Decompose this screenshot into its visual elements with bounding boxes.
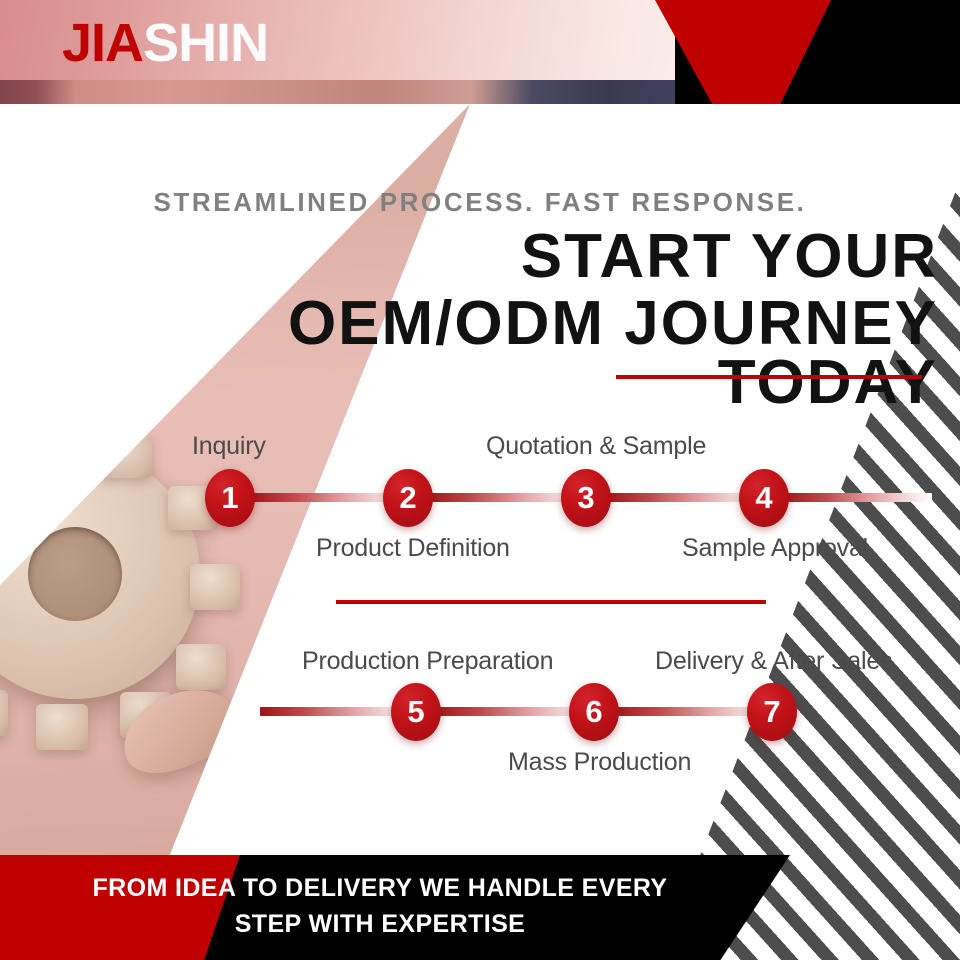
footer-line-2: STEP WITH EXPERTISE: [40, 907, 720, 943]
gear-tooth: [190, 564, 240, 610]
poster-canvas: JIASHIN STREAMLINED PROCESS. FAST RESPON…: [0, 0, 960, 960]
header-bar: JIASHIN: [0, 0, 960, 104]
headline-line-2: OEM/ODM JOURNEY TODAY: [60, 295, 938, 413]
headline-line-1: START YOUR: [60, 228, 938, 287]
step-number: 6: [585, 694, 602, 730]
step-number: 7: [763, 694, 780, 730]
step-label-1: Inquiry: [192, 432, 266, 461]
step-number: 4: [755, 480, 772, 516]
step-badge-4[interactable]: 4: [739, 469, 789, 527]
step-number: 5: [407, 694, 424, 730]
footer-bar: FROM IDEA TO DELIVERY WE HANDLE EVERY ST…: [0, 855, 960, 960]
step-badge-1[interactable]: 1: [205, 469, 255, 527]
tagline-text: STREAMLINED PROCESS. FAST RESPONSE.: [0, 187, 960, 218]
connector-line: [260, 707, 410, 716]
step-label-3: Quotation & Sample: [486, 432, 706, 461]
step-number: 3: [577, 480, 594, 516]
step-number: 2: [399, 480, 416, 516]
footer-line-1: FROM IDEA TO DELIVERY WE HANDLE EVERY: [40, 871, 720, 907]
connector-line: [782, 493, 932, 502]
section-divider: [336, 600, 766, 604]
headline-underline: [616, 375, 922, 379]
step-badge-7[interactable]: 7: [747, 683, 797, 741]
page-title: START YOUR OEM/ODM JOURNEY TODAY: [60, 228, 938, 413]
logo-text-first: JIA: [62, 13, 143, 73]
step-label-6: Mass Production: [508, 748, 691, 777]
step-label-5: Production Preparation: [302, 647, 553, 676]
step-label-7: Delivery & After Sales: [655, 647, 892, 676]
brand-logo: JIASHIN: [62, 16, 268, 70]
step-label-2: Product Definition: [316, 534, 510, 563]
step-badge-6[interactable]: 6: [569, 683, 619, 741]
step-label-4: Sample Approval: [682, 534, 868, 563]
gear-tooth: [176, 644, 226, 690]
step-number: 1: [221, 480, 238, 516]
step-badge-3[interactable]: 3: [561, 469, 611, 527]
step-badge-5[interactable]: 5: [391, 683, 441, 741]
gear-tooth: [36, 704, 88, 750]
step-badge-2[interactable]: 2: [383, 469, 433, 527]
gear-tooth: [0, 690, 8, 736]
logo-text-second: SHIN: [143, 13, 268, 73]
footer-tagline: FROM IDEA TO DELIVERY WE HANDLE EVERY ST…: [40, 871, 720, 942]
